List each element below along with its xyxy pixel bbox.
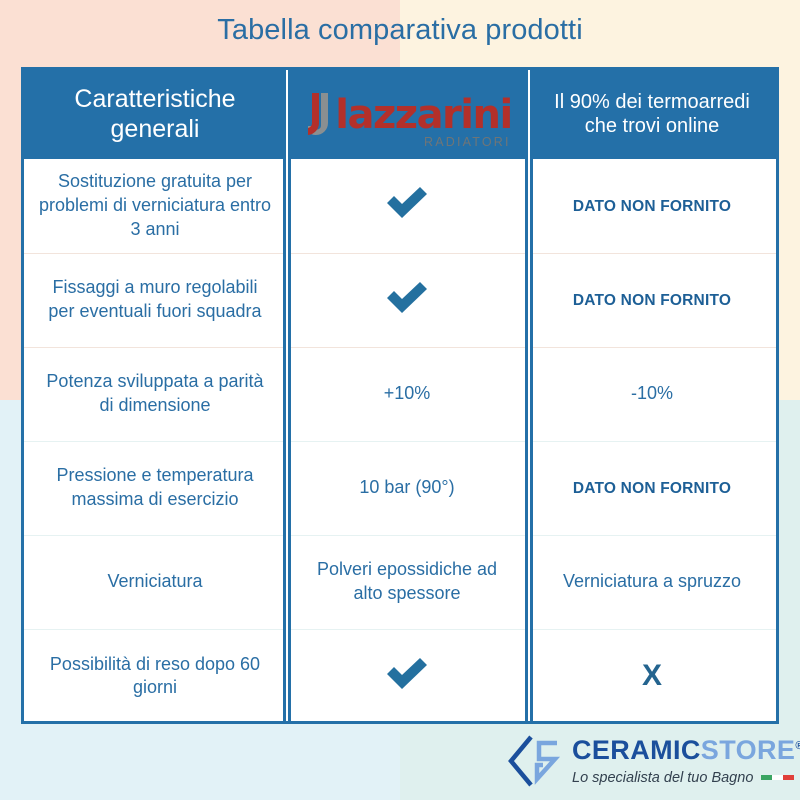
table-row: Sostituzione gratuita per problemi di ve… [24,159,776,253]
registered-trademark-icon: ® [795,740,800,752]
row-feature-label: Sostituzione gratuita per problemi di ve… [24,159,286,253]
no-data-label: DATO NON FORNITO [573,480,731,497]
cross-mark-icon: X [642,659,662,692]
table-row: Pressione e temperatura massima di eserc… [24,441,776,535]
row-feature-label: Possibilità di reso dopo 60 giorni [24,629,286,723]
lazzarini-subtitle: RADIATORI [424,136,511,149]
lazzarini-wordmark: lazzarini [335,95,511,135]
row-competitor-value: DATO NON FORNITO [528,441,776,535]
table-header-row: Caratteristiche generali lazzarini [24,70,776,159]
comparison-table-wrapper: Caratteristiche generali lazzarini [21,67,779,724]
row-brand-value: 10 bar (90°) [286,441,528,535]
comparison-table: Caratteristiche generali lazzarini [24,70,776,723]
lazzarini-hook-icon [308,92,330,138]
column-header-competitor: Il 90% dei termoarredi che trovi online [528,70,776,159]
lazzarini-logo: lazzarini RADIATORI [294,72,520,157]
row-competitor-value: X [528,629,776,723]
row-brand-value: Polveri epossidiche ad alto spessore [286,535,528,629]
italian-flag-icon [761,775,794,780]
comparison-table-page: Tabella comparativa prodotti Caratterist… [0,0,800,800]
row-feature-label: Verniciatura [24,535,286,629]
row-feature-label: Fissaggi a muro regolabili per eventuali… [24,253,286,347]
ceramicstore-logo[interactable]: CERAMICSTORE® Lo specialista del tuo Bag… [505,733,800,789]
row-feature-label: Pressione e temperatura massima di eserc… [24,441,286,535]
row-competitor-value: -10% [528,347,776,441]
column-header-features: Caratteristiche generali [24,70,286,159]
brand-name-part1: CERAMIC [572,735,701,765]
ceramicstore-tagline: Lo specialista del tuo Bagno [572,770,753,786]
table-body: Sostituzione gratuita per problemi di ve… [24,159,776,723]
ceramicstore-tagline-row: Lo specialista del tuo Bagno [572,770,800,786]
row-brand-value [286,253,528,347]
checkmark-icon [384,655,430,691]
checkmark-icon [384,184,430,220]
no-data-label: DATO NON FORNITO [573,292,731,309]
row-competitor-value: DATO NON FORNITO [528,159,776,253]
row-brand-value [286,629,528,723]
column-header-brand: lazzarini RADIATORI [286,70,528,159]
table-header: Caratteristiche generali lazzarini [24,70,776,159]
row-competitor-value: DATO NON FORNITO [528,253,776,347]
page-title: Tabella comparativa prodotti [0,14,800,47]
checkmark-icon [384,279,430,315]
table-row: Potenza sviluppata a parità di dimension… [24,347,776,441]
row-brand-value: +10% [286,347,528,441]
row-feature-label: Potenza sviluppata a parità di dimension… [24,347,286,441]
no-data-label: DATO NON FORNITO [573,198,731,215]
row-brand-value [286,159,528,253]
table-row: Verniciatura Polveri epossidiche ad alto… [24,535,776,629]
table-row: Fissaggi a muro regolabili per eventuali… [24,253,776,347]
row-competitor-value: Verniciatura a spruzzo [528,535,776,629]
ceramicstore-mark-icon [505,733,563,789]
table-row: Possibilità di reso dopo 60 giorni X [24,629,776,723]
ceramicstore-wordmark: CERAMICSTORE® [572,737,800,764]
brand-name-part2: STORE [701,735,796,765]
